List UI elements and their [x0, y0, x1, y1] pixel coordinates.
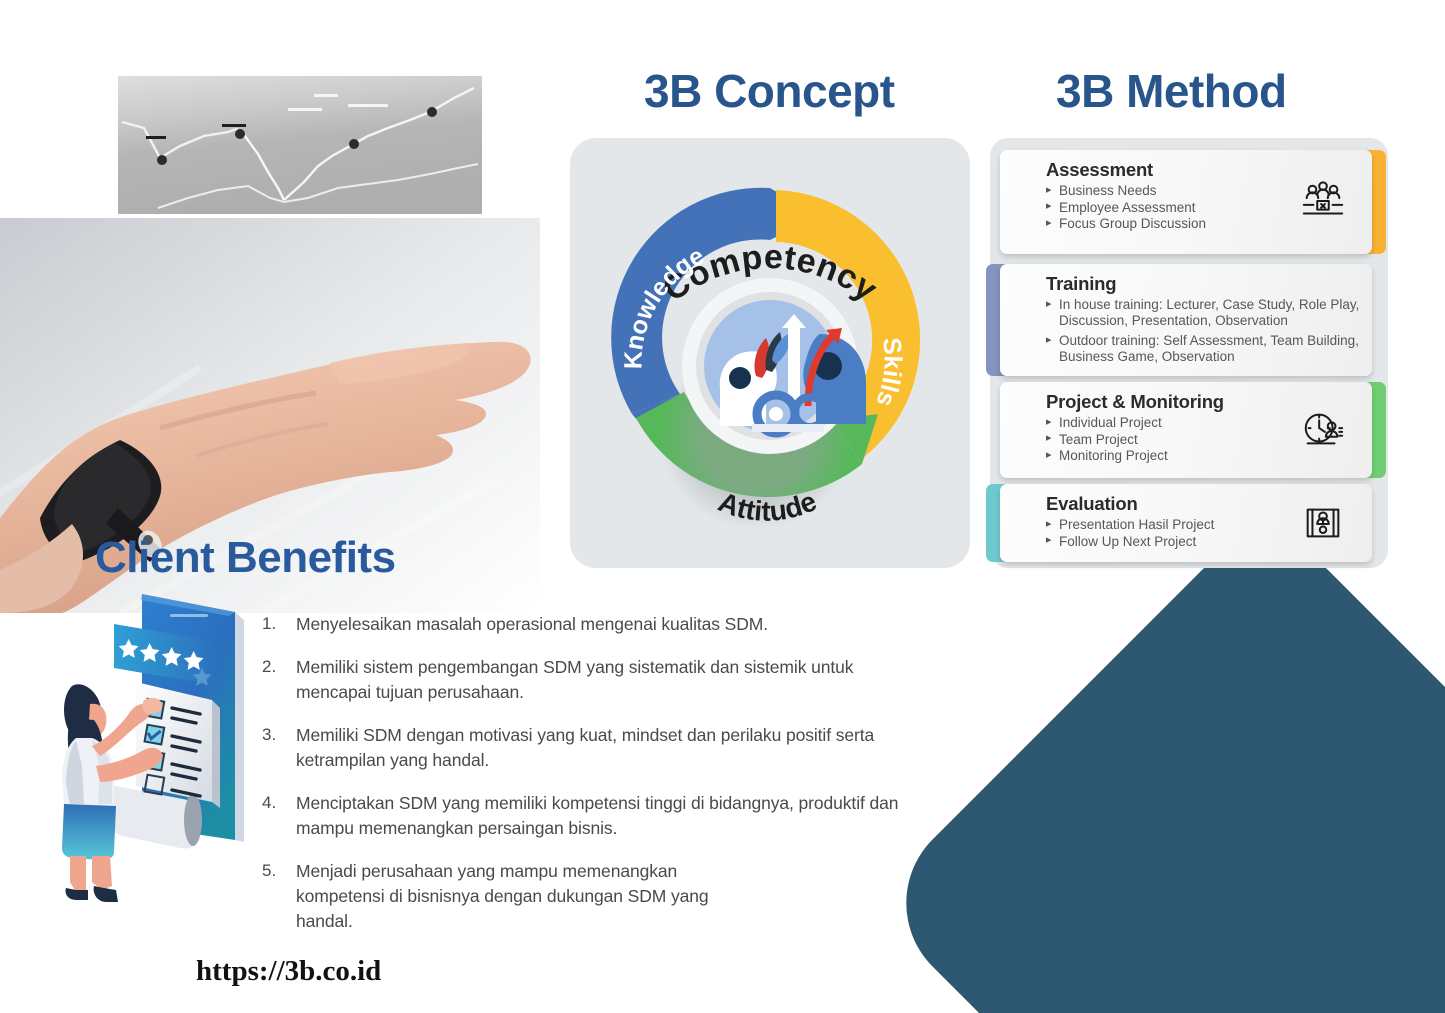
list-item: Monitoring Project	[1046, 448, 1335, 464]
list-item: In house training: Lecturer, Case Study,…	[1046, 297, 1372, 328]
audience-group-icon	[1300, 179, 1346, 225]
method-card-evaluation[interactable]: Evaluation Presentation Hasil Project Fo…	[1000, 484, 1372, 562]
presentation-board-icon	[1300, 500, 1346, 546]
list-item-text: Menyelesaikan masalah operasional mengen…	[296, 612, 768, 637]
list-item: 1. Menyelesaikan masalah operasional men…	[262, 612, 922, 637]
woman-checklist-illustration	[30, 590, 280, 910]
list-item: Focus Group Discussion	[1046, 216, 1335, 232]
navy-decorative-shape	[869, 507, 1445, 1013]
list-item-number: 5.	[262, 859, 296, 934]
list-item-text: Menjadi perusahaan yang mampu memenangka…	[296, 859, 756, 934]
list-item: Individual Project	[1046, 415, 1335, 431]
list-item: Presentation Hasil Project	[1046, 517, 1335, 533]
list-item: 5. Menjadi perusahaan yang mampu memenan…	[262, 859, 922, 934]
list-item: 3. Memiliki SDM dengan motivasi yang kua…	[262, 723, 922, 773]
line-graph-image	[118, 76, 482, 214]
list-item: Team Project	[1046, 432, 1335, 448]
list-item-text: Memiliki sistem pengembangan SDM yang si…	[296, 655, 922, 705]
list-item-text: Memiliki SDM dengan motivasi yang kuat, …	[296, 723, 922, 773]
card-title: Assessment	[1046, 159, 1372, 181]
list-item: Outdoor training: Self Assessment, Team …	[1046, 333, 1359, 364]
list-item: Employee Assessment	[1046, 200, 1335, 216]
method-cards-panel: Assessment Business Needs Employee Asses…	[990, 138, 1388, 568]
concept-diagram-panel: Competency Knowledge Skills Attitude	[570, 138, 970, 568]
card-title: Training	[1046, 273, 1372, 295]
list-item: 4. Menciptakan SDM yang memiliki kompete…	[262, 791, 922, 841]
list-item-number: 3.	[262, 723, 296, 773]
list-item-number: 4.	[262, 791, 296, 841]
list-item-text: Menciptakan SDM yang memiliki kompetensi…	[296, 791, 922, 841]
client-benefits-list: 1. Menyelesaikan masalah operasional men…	[262, 612, 922, 952]
method-card-training[interactable]: Training In house training: Lecturer, Ca…	[1000, 264, 1372, 376]
stopwatch-person-icon	[1300, 407, 1346, 453]
page-title-client-benefits: Client Benefits	[95, 533, 396, 583]
method-card-project-monitoring[interactable]: Project & Monitoring Individual Project …	[1000, 382, 1372, 478]
card-item-list: In house training: Lecturer, Case Study,…	[1046, 297, 1372, 364]
list-item-number: 2.	[262, 655, 296, 705]
list-item: 2. Memiliki sistem pengembangan SDM yang…	[262, 655, 922, 705]
slide-canvas: 3B Concept 3B Method	[0, 0, 1445, 1013]
page-title-3b-method: 3B Method	[1056, 64, 1287, 118]
list-item: Business Needs	[1046, 183, 1335, 199]
list-item: Follow Up Next Project	[1046, 534, 1335, 550]
page-title-3b-concept: 3B Concept	[644, 64, 895, 118]
method-card-assessment[interactable]: Assessment Business Needs Employee Asses…	[1000, 150, 1372, 254]
website-url[interactable]: https://3b.co.id	[196, 955, 381, 988]
list-item-number: 1.	[262, 612, 296, 637]
